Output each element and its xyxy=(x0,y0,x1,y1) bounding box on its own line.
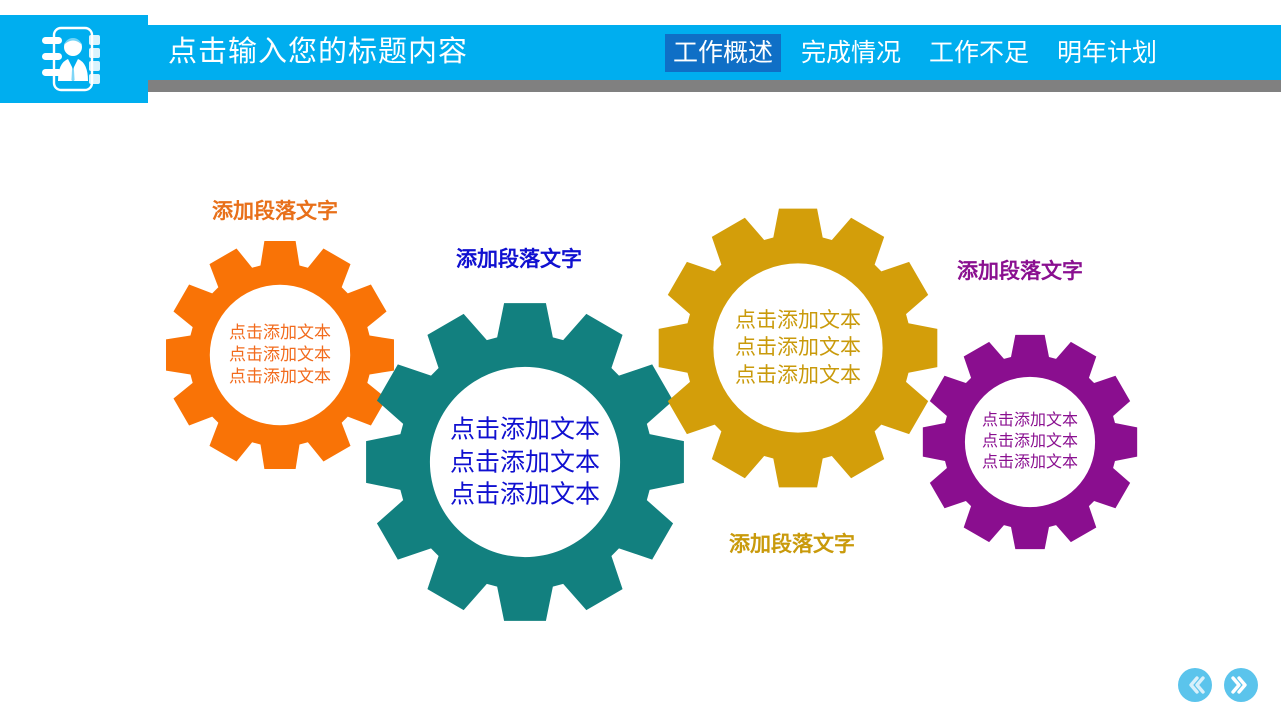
tab-completion-status[interactable]: 完成情况 xyxy=(793,34,909,72)
gear-gold-shape xyxy=(655,205,941,491)
slide-navigation xyxy=(1178,668,1268,708)
header-accent-bar xyxy=(148,80,1281,92)
gear-purple-label: 添加段落文字 xyxy=(957,255,1083,285)
nav-tabs: 工作概述 完成情况 工作不足 明年计划 xyxy=(665,25,1177,80)
gear-teal-shape xyxy=(362,299,688,625)
gear-teal-label: 添加段落文字 xyxy=(456,243,582,273)
double-chevron-left-icon xyxy=(1178,668,1212,702)
gear-purple[interactable]: 点击添加文本 点击添加文本 点击添加文本 xyxy=(920,332,1140,552)
logo-block xyxy=(0,15,148,103)
prev-slide-button[interactable] xyxy=(1178,668,1212,702)
tab-shortcomings[interactable]: 工作不足 xyxy=(921,34,1037,72)
double-chevron-right-icon xyxy=(1224,668,1258,702)
tab-work-overview[interactable]: 工作概述 xyxy=(665,34,781,72)
page-title: 点击输入您的标题内容 xyxy=(168,25,468,80)
contact-book-person-icon xyxy=(38,25,112,93)
next-slide-button[interactable] xyxy=(1224,668,1258,702)
gear-diagram: 点击添加文本 点击添加文本 点击添加文本 添加段落文字 点击添加文本 点击添加文… xyxy=(0,110,1281,720)
gear-gold-label: 添加段落文字 xyxy=(729,528,855,558)
gear-gold[interactable]: 点击添加文本 点击添加文本 点击添加文本 xyxy=(655,205,941,491)
gear-teal[interactable]: 点击添加文本 点击添加文本 点击添加文本 xyxy=(362,299,688,625)
tab-next-year-plan[interactable]: 明年计划 xyxy=(1049,34,1165,72)
gear-purple-shape xyxy=(920,332,1140,552)
page-header: 点击输入您的标题内容 工作概述 完成情况 工作不足 明年计划 xyxy=(0,0,1281,110)
gear-orange-label: 添加段落文字 xyxy=(212,195,338,225)
